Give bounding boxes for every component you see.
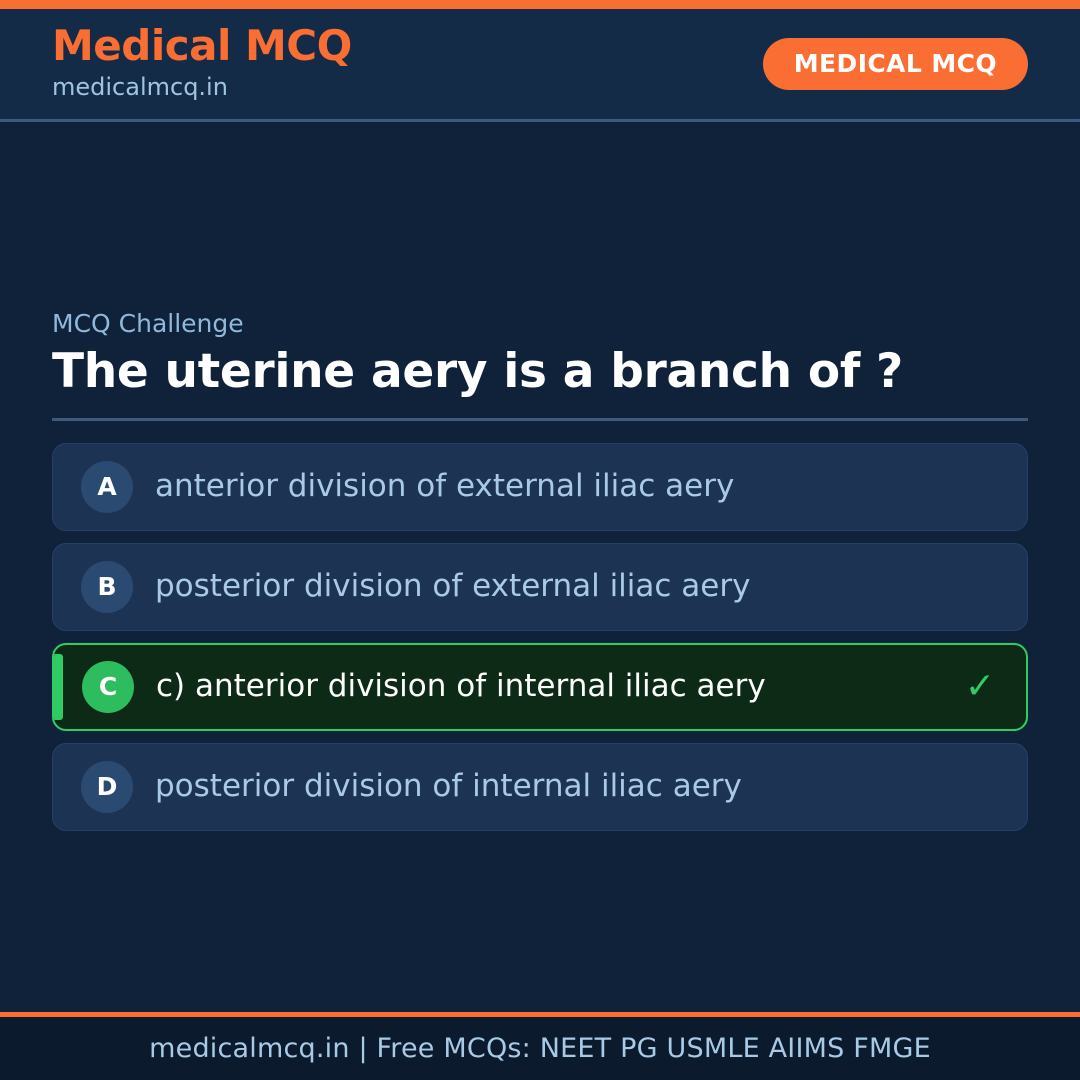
content-area: MCQ Challenge The uterine aery is a bran… bbox=[0, 122, 1080, 1012]
option-letter-badge: D bbox=[81, 761, 133, 813]
options-list: A anterior division of external iliac ae… bbox=[52, 443, 1028, 831]
question-text: The uterine aery is a branch of ? bbox=[52, 345, 1028, 399]
brand-title: Medical MCQ bbox=[52, 24, 352, 68]
brand-url: medicalmcq.in bbox=[52, 72, 352, 102]
correct-accent-bar bbox=[54, 654, 63, 720]
option-c[interactable]: C c) anterior division of internal iliac… bbox=[52, 643, 1028, 731]
option-letter-badge: A bbox=[81, 461, 133, 513]
top-accent-bar bbox=[0, 0, 1080, 9]
option-b[interactable]: B posterior division of external iliac a… bbox=[52, 543, 1028, 631]
option-letter-badge: B bbox=[81, 561, 133, 613]
check-icon: ✓ bbox=[960, 669, 1000, 705]
question-divider bbox=[52, 418, 1028, 421]
mcq-card: Medical MCQ medicalmcq.in MEDICAL MCQ MC… bbox=[0, 0, 1080, 1080]
footer: medicalmcq.in | Free MCQs: NEET PG USMLE… bbox=[0, 1012, 1080, 1080]
question-block: MCQ Challenge The uterine aery is a bran… bbox=[52, 309, 1028, 399]
option-text: posterior division of internal iliac aer… bbox=[155, 769, 961, 805]
header-badge: MEDICAL MCQ bbox=[763, 38, 1028, 90]
option-text: anterior division of external iliac aery bbox=[155, 469, 961, 505]
option-text: posterior division of external iliac aer… bbox=[155, 569, 961, 605]
question-eyebrow: MCQ Challenge bbox=[52, 309, 1028, 339]
option-letter-badge: C bbox=[82, 661, 134, 713]
brand-block: Medical MCQ medicalmcq.in bbox=[52, 24, 352, 101]
footer-text: medicalmcq.in | Free MCQs: NEET PG USMLE… bbox=[149, 1035, 931, 1062]
option-d[interactable]: D posterior division of internal iliac a… bbox=[52, 743, 1028, 831]
header: Medical MCQ medicalmcq.in MEDICAL MCQ bbox=[0, 9, 1080, 122]
option-a[interactable]: A anterior division of external iliac ae… bbox=[52, 443, 1028, 531]
option-text: c) anterior division of internal iliac a… bbox=[156, 669, 960, 705]
